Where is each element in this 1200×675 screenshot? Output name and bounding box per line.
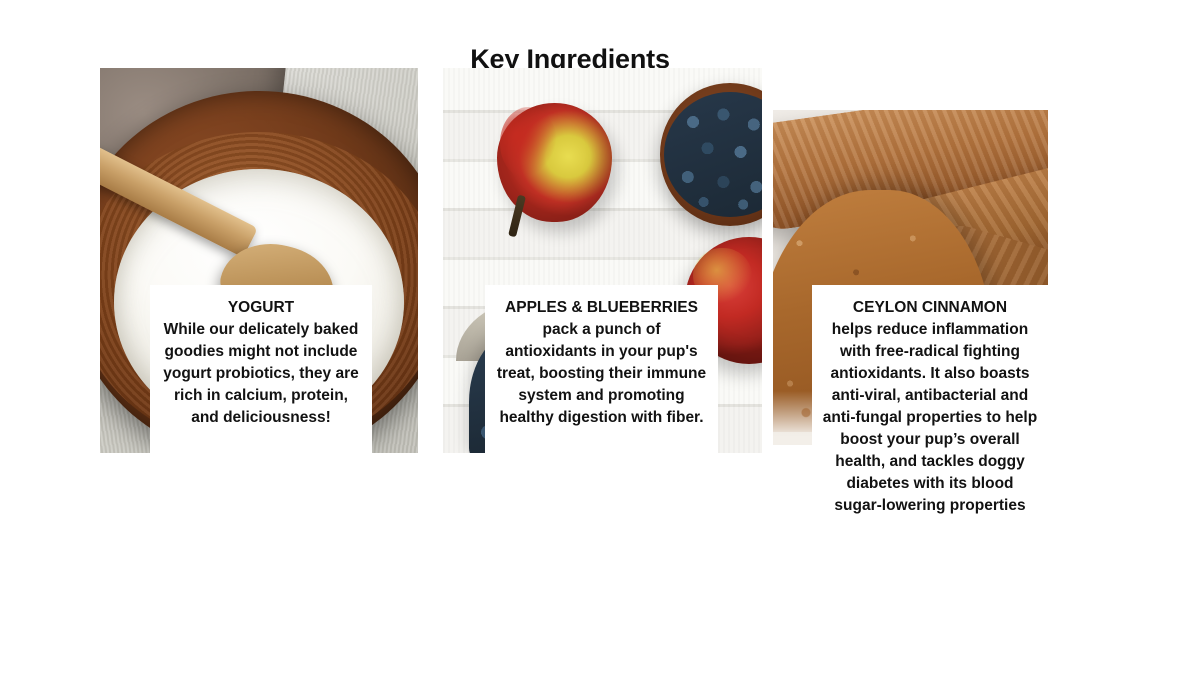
ingredient-card-list: YOGURTWhile our delicately baked goodies… [0, 0, 1200, 675]
apple-top-blush-shape [500, 107, 557, 179]
ceylon-cinnamon-caption-panel: CEYLON CINNAMONhelps reduce inflammation… [812, 285, 1048, 598]
yogurt-term: YOGURT [160, 297, 362, 319]
apples-blueberries-description: pack a punch of antioxidants in your pup… [497, 321, 706, 426]
apples-blueberries-term: APPLES & BLUEBERRIES [495, 297, 708, 319]
ceylon-cinnamon-term: CEYLON CINNAMON [822, 297, 1038, 319]
yogurt-caption-panel: YOGURTWhile our delicately baked goodies… [150, 285, 372, 454]
apple-top-shape [497, 103, 612, 222]
blueberries-shape [664, 92, 762, 217]
yogurt-description: While our delicately baked goodies might… [163, 321, 359, 426]
apples-blueberries-caption-panel: APPLES & BLUEBERRIESpack a punch of anti… [485, 285, 718, 454]
ceylon-cinnamon-description: helps reduce inflammation with free-radi… [823, 321, 1037, 514]
